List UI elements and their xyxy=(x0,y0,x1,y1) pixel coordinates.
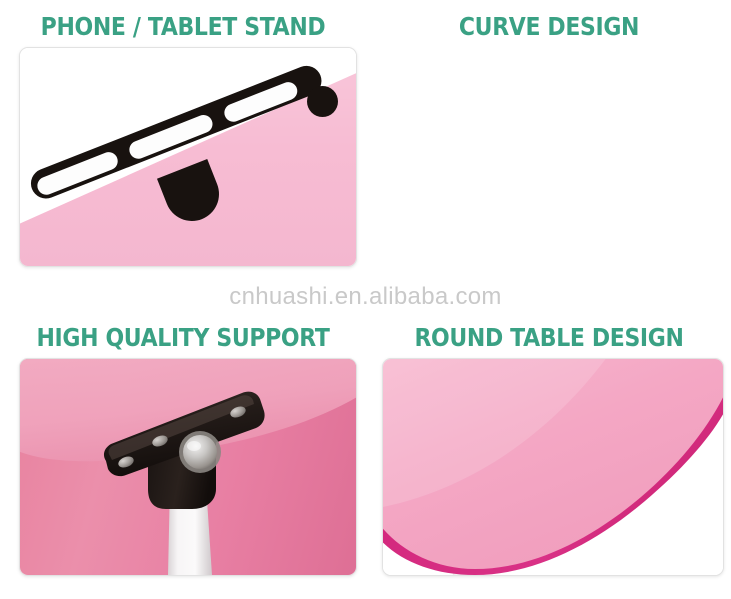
feature-cell-round-table: ROUND TABLE DESIGN xyxy=(370,318,728,594)
groove-tab xyxy=(157,159,227,229)
feature-title-phone-stand: PHONE / TABLET STAND xyxy=(25,12,340,42)
feature-title-round-table: ROUND TABLE DESIGN xyxy=(391,323,706,353)
stand-groove-group xyxy=(26,66,356,246)
chrome-button-glint xyxy=(187,441,201,451)
phone-stand-scene xyxy=(20,48,356,266)
feature-cell-phone-stand: PHONE / TABLET STAND xyxy=(4,6,362,292)
feature-image-round-table xyxy=(382,358,724,576)
feature-title-support: HIGH QUALITY SUPPORT xyxy=(25,323,340,353)
feature-grid: PHONE / TABLET STAND CURVE DESIGN xyxy=(0,0,731,599)
support-scene xyxy=(20,359,356,575)
chrome-button xyxy=(183,435,217,469)
groove-knob xyxy=(307,86,338,117)
feature-cell-curve: CURVE DESIGN xyxy=(370,6,728,292)
feature-title-curve: CURVE DESIGN xyxy=(391,12,706,42)
support-illustration xyxy=(20,359,356,575)
feature-image-phone-stand xyxy=(19,47,357,267)
round-table-illustration xyxy=(383,359,723,575)
feature-image-support xyxy=(19,358,357,576)
feature-cell-support: HIGH QUALITY SUPPORT xyxy=(4,318,362,594)
round-table-scene xyxy=(383,359,723,575)
